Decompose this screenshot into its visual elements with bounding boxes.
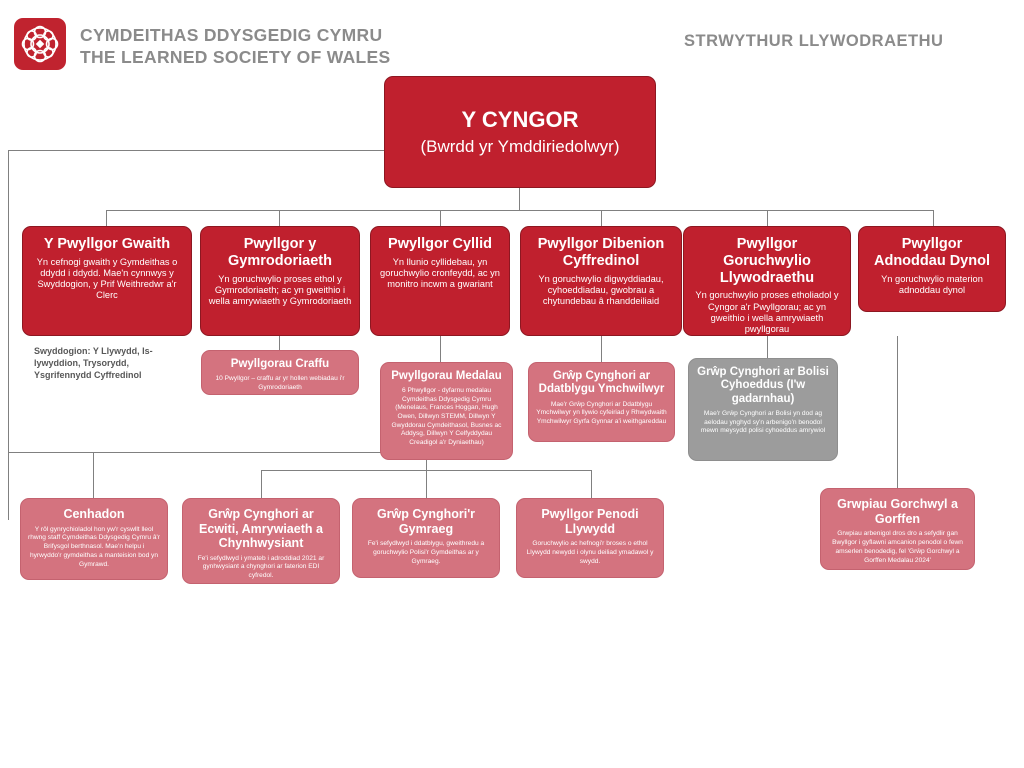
subgroup-desc: Mae'r Grŵp Cynghori ar Bolisi yn dod ag … [696,410,830,436]
connector-drop-committee-3 [440,210,441,226]
committee-desc: Yn goruchwylio digwyddiadau, cyhoeddiada… [528,274,674,307]
subgroup-box-pwyllgorau-medalau[interactable]: Pwyllgorau Medalau 6 Phwyllgor - dyfarnu… [380,362,513,460]
page-title: STRWYTHUR LLYWODRAETHU [684,32,943,51]
connector-drop-bottom-3 [426,470,427,498]
bottom-desc: Goruchwylio ac hefnogi'r broses o ethol … [524,540,656,567]
committee-box-pwyllgor-gwaith[interactable]: Y Pwyllgor Gwaith Yn cefnogi gwaith y Gy… [22,226,192,336]
subgroup-box-pwyllgorau-craffu[interactable]: Pwyllgorau Craffu 10 Pwyllgor – craffu a… [201,350,359,395]
committee-title: Pwyllgor Cyllid [388,236,492,253]
connector-drop-committee-1 [106,210,107,226]
bottom-box-grwpiau-gorchwyl-a-gorffen[interactable]: Grwpiau Gorchwyl a Gorffen Grwpiau arben… [820,488,975,570]
committee-title: Pwyllgor Adnoddau Dynol [866,236,998,270]
connector-root-down [519,188,520,210]
subgroup-box-grwp-polisi-cyhoeddus[interactable]: Grŵp Cynghori ar Bolisi Cyhoeddus (I'w g… [688,358,838,461]
committee-box-pwyllgor-y-gymrodoriaeth[interactable]: Pwyllgor y Gymrodoriaeth Yn goruchwylio … [200,226,360,336]
subgroup-title: Pwyllgorau Medalau [391,370,502,383]
connector-drop-bottom-2 [261,470,262,498]
connector-left-spine [8,150,9,520]
bottom-title: Pwyllgor Penodi Llywydd [524,507,656,536]
bottom-box-cenhadon[interactable]: Cenhadon Y rôl gynrychioladol hon yw'r c… [20,498,168,580]
bottom-box-grwp-cynghori-gymraeg[interactable]: Grŵp Cynghori'r Gymraeg Fe'i sefydlwyd i… [352,498,500,578]
connector-drop-sub-polisi [767,336,768,358]
committee-desc: Yn goruchwylio materion adnoddau dynol [866,274,998,296]
committee-title: Pwyllgor Goruchwylio Llywodraethu [691,236,843,286]
committee-box-pwyllgor-dibenion-cyffredinol[interactable]: Pwyllgor Dibenion Cyffredinol Yn goruchw… [520,226,682,336]
subgroup-desc: 6 Phwyllgor - dyfarnu medalau Cymdeithas… [388,387,505,447]
brand-line-english: THE LEARNED SOCIETY OF WALES [80,46,390,68]
root-box-y-cyngor[interactable]: Y CYNGOR (Bwrdd yr Ymddiriedolwyr) [384,76,656,188]
connector-left-top [8,150,384,151]
connector-drop-sub-ymchwilwyr [601,336,602,362]
lsw-celtic-knot-logo-icon [14,18,66,70]
bottom-desc: Fe'i sefydlwyd i ddatblygu, gweithredu a… [360,540,492,567]
bottom-title: Grŵp Cynghori ar Ecwiti, Amrywiaeth a Ch… [190,507,332,551]
brand-wordmark: CYMDEITHAS DDYSGEDIG CYMRU THE LEARNED S… [80,24,390,68]
connector-drop-committee-6 [933,210,934,226]
root-title: Y CYNGOR [462,107,579,133]
brand-line-welsh: CYMDEITHAS DDYSGEDIG CYMRU [80,24,390,46]
committee-desc: Yn cefnogi gwaith y Gymdeithas o ddydd i… [30,257,184,302]
connector-bottom-bus [261,470,591,471]
connector-drop-bottom-4 [591,470,592,498]
subgroup-desc: 10 Pwyllgor – craffu ar yr hollen webiad… [209,375,351,392]
bottom-title: Grwpiau Gorchwyl a Gorffen [828,497,967,526]
committee-title: Pwyllgor Dibenion Cyffredinol [528,236,674,270]
subgroup-title: Pwyllgorau Craffu [231,358,329,371]
bottom-title: Grŵp Cynghori'r Gymraeg [360,507,492,536]
subgroup-title: Grŵp Cynghori ar Bolisi Cyhoeddus (I'w g… [696,366,830,406]
committee-box-pwyllgor-cyllid[interactable]: Pwyllgor Cyllid Yn llunio cyllidebau, yn… [370,226,510,336]
bottom-desc: Fe'i sefydlwyd i ymateb i adroddiad 2021… [190,555,332,582]
subgroup-title: Grŵp Cynghori ar Ddatblygu Ymchwilwyr [536,370,667,397]
connector-drop-bottom-1 [93,452,94,498]
connector-level1-bus [106,210,933,211]
bottom-desc: Y rôl gynrychioladol hon yw'r cyswllt ll… [28,526,160,570]
subgroup-desc: Mae'r Grŵp Cynghori ar Ddatblygu Ymchwil… [536,401,667,427]
committee-desc: Yn llunio cyllidebau, yn goruchwylio cro… [378,257,502,290]
committee-box-pwyllgor-goruchwylio-llywodraethu[interactable]: Pwyllgor Goruchwylio Llywodraethu Yn gor… [683,226,851,336]
connector-drop-sub-craffu [279,336,280,350]
committee-title: Pwyllgor y Gymrodoriaeth [208,236,352,270]
connector-drop-committee-5 [767,210,768,226]
connector-drop-bottom-5 [897,336,898,488]
connector-drop-sub-medalau [440,336,441,362]
subgroup-box-grwp-datblygu-ymchwilwyr[interactable]: Grŵp Cynghori ar Ddatblygu Ymchwilwyr Ma… [528,362,675,442]
connector-drop-committee-4 [601,210,602,226]
bottom-desc: Grwpiau arbenigol dros dro a sefydlir ga… [828,530,967,566]
connector-drop-committee-2 [279,210,280,226]
committee-box-pwyllgor-adnoddau-dynol[interactable]: Pwyllgor Adnoddau Dynol Yn goruchwylio m… [858,226,1006,312]
bottom-title: Cenhadon [63,507,124,522]
root-subtitle: (Bwrdd yr Ymddiriedolwyr) [420,136,619,157]
bottom-box-grwp-ecwiti-amrywiaeth-chynhwysiant[interactable]: Grŵp Cynghori ar Ecwiti, Amrywiaeth a Ch… [182,498,340,584]
connector-bottom-bus-feed-h [108,452,426,453]
committee-title: Y Pwyllgor Gwaith [44,236,170,253]
committee-desc: Yn goruchwylio proses ethol y Gymrodoria… [208,274,352,307]
officers-note: Swyddogion: Y Llywydd, Is-lywyddion, Try… [34,346,184,382]
committee-desc: Yn goruchwylio proses etholiadol y Cyngo… [691,290,843,335]
bottom-box-pwyllgor-penodi-llywydd[interactable]: Pwyllgor Penodi Llywydd Goruchwylio ac h… [516,498,664,578]
org-chart-canvas: CYMDEITHAS DDYSGEDIG CYMRU THE LEARNED S… [0,0,1024,768]
